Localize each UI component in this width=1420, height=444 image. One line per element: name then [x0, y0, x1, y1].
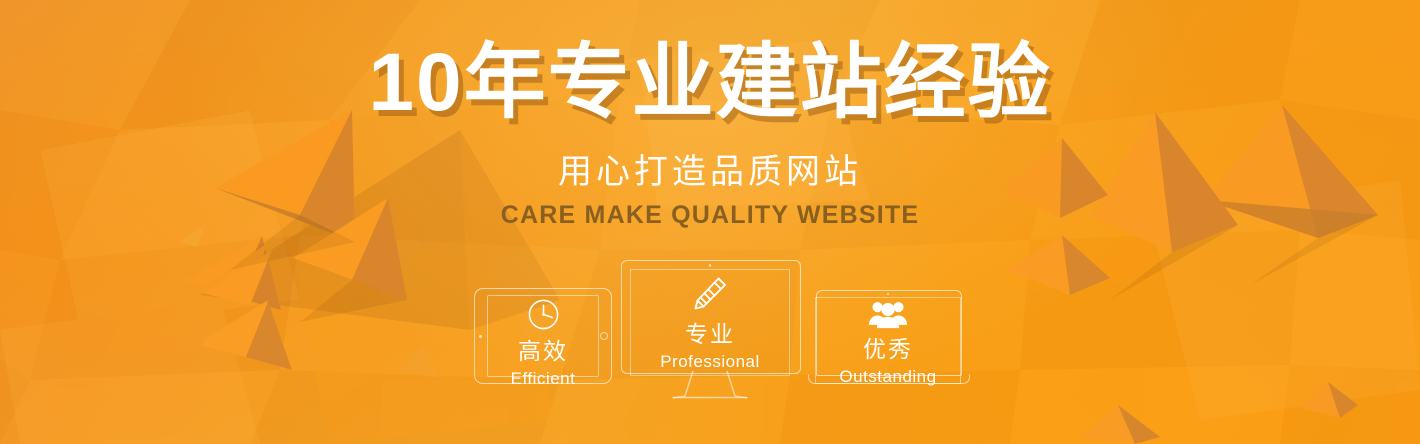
- subtitle-english: CARE MAKE QUALITY WEBSITE: [0, 203, 1420, 228]
- text-content: 10年专业建站经验 用心打造品质网站 CARE MAKE QUALITY WEB…: [0, 0, 1420, 444]
- subtitle-chinese: 用心打造品质网站: [0, 155, 1420, 189]
- promo-banner: 10年专业建站经验 用心打造品质网站 CARE MAKE QUALITY WEB…: [0, 0, 1420, 444]
- page-title: 10年专业建站经验: [0, 42, 1420, 124]
